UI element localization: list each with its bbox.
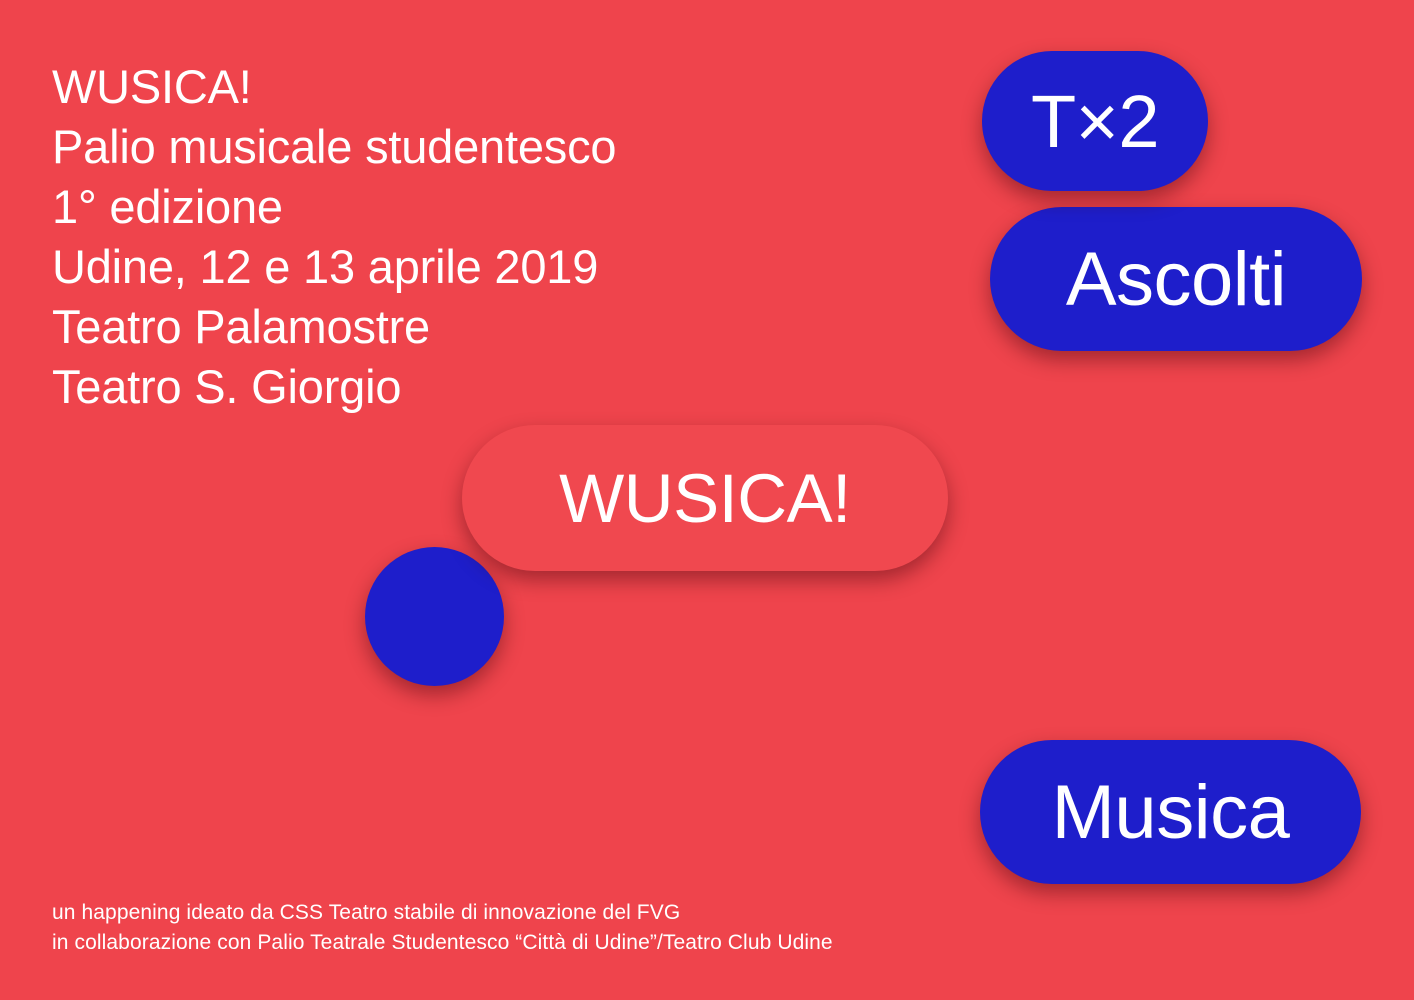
headline-line-title: WUSICA! — [52, 57, 616, 117]
headline-line-venue-2: Teatro S. Giorgio — [52, 357, 616, 417]
credits-block: un happening ideato da CSS Teatro stabil… — [52, 898, 833, 958]
headline-block: WUSICA! Palio musicale studentesco 1° ed… — [52, 57, 616, 417]
badge-wusica: WUSICA! — [462, 425, 948, 571]
badge-tx2: T×2 — [982, 51, 1208, 191]
headline-line-dates: Udine, 12 e 13 aprile 2019 — [52, 237, 616, 297]
badge-ascolti: Ascolti — [990, 207, 1362, 351]
credits-line-collaboration: in collaborazione con Palio Teatrale Stu… — [52, 928, 833, 958]
headline-line-edition: 1° edizione — [52, 177, 616, 237]
credits-line-organiser: un happening ideato da CSS Teatro stabil… — [52, 898, 833, 928]
headline-line-subtitle: Palio musicale studentesco — [52, 117, 616, 177]
poster-canvas: WUSICA! Palio musicale studentesco 1° ed… — [0, 0, 1414, 1000]
headline-line-venue-1: Teatro Palamostre — [52, 297, 616, 357]
decorative-circle — [365, 547, 504, 686]
badge-musica: Musica — [980, 740, 1361, 884]
